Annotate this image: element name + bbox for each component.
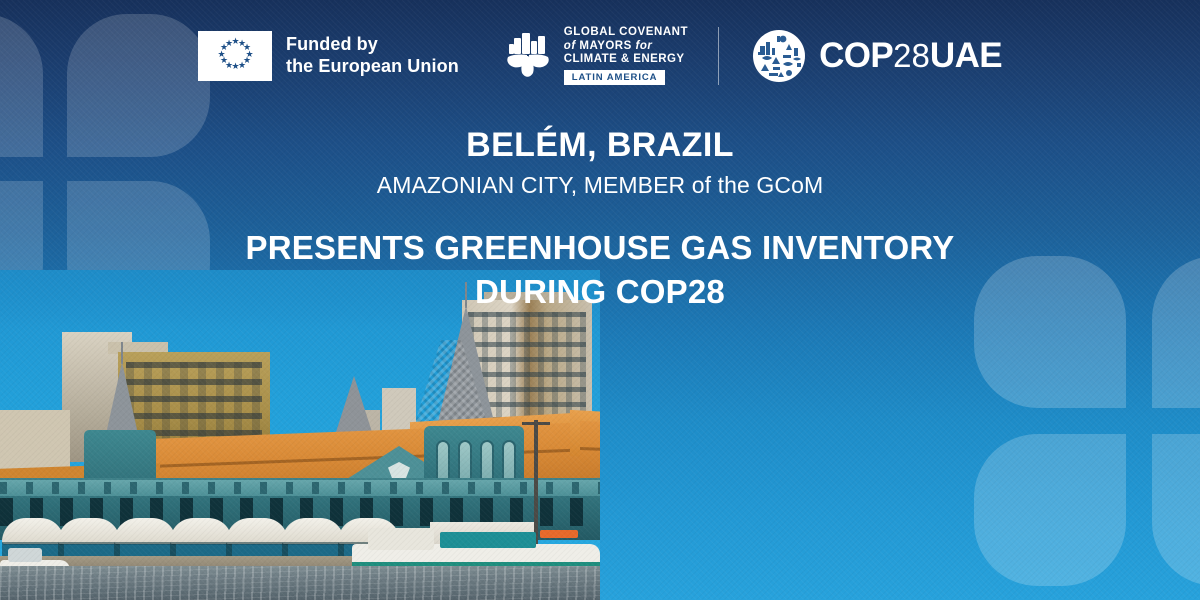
- headline-line-2: DURING COP28: [0, 270, 1200, 314]
- headline-line-1: PRESENTS GREENHOUSE GAS INVENTORY: [0, 226, 1200, 270]
- eu-funding-line-2: the European Union: [286, 56, 459, 78]
- cop28-globe-emblem-icon: [753, 30, 805, 82]
- banner-copy: BELÉM, BRAZIL AMAZONIAN CITY, MEMBER of …: [0, 126, 1200, 313]
- gcom-line-2-of: of: [564, 40, 576, 52]
- gcom-line-2-mayors: MAYORS: [579, 40, 631, 52]
- cop-suffix: UAE: [930, 36, 1002, 76]
- city-title: BELÉM, BRAZIL: [0, 126, 1200, 165]
- logo-header: ★ ★ ★ ★ ★ ★ ★ ★ ★ ★ ★ ★ Funded by the Eu…: [0, 0, 1200, 112]
- gcom-line-2-for: for: [635, 40, 652, 52]
- photo-half-right-mirrored: [0, 270, 600, 600]
- headline: PRESENTS GREENHOUSE GAS INVENTORY DURING…: [0, 226, 1200, 313]
- logo-divider: [718, 27, 719, 85]
- gcom-line-3: CLIMATE & ENERGY: [564, 53, 688, 67]
- cop-prefix: COP: [819, 36, 893, 76]
- gcom-leaf-skyline-icon: [501, 32, 555, 80]
- gcom-line-1: GLOBAL COVENANT: [564, 26, 688, 40]
- european-union-flag-icon: ★ ★ ★ ★ ★ ★ ★ ★ ★ ★ ★ ★: [198, 31, 272, 81]
- cop-number: 28: [893, 37, 930, 75]
- eu-funding-text: Funded by the European Union: [286, 34, 459, 78]
- gcom-wordmark: GLOBAL COVENANT of MAYORS for CLIMATE & …: [564, 26, 688, 86]
- eu-funding-line-1: Funded by: [286, 34, 459, 56]
- gcom-logo: GLOBAL COVENANT of MAYORS for CLIMATE & …: [501, 26, 688, 86]
- city-subtitle: AMAZONIAN CITY, MEMBER of the GCoM: [0, 172, 1200, 199]
- eu-stars-circle: ★ ★ ★ ★ ★ ★ ★ ★ ★ ★ ★ ★: [217, 38, 253, 74]
- cop28-uae-wordmark: COP 28 UAE: [819, 36, 1002, 76]
- cop28-uae-logo: COP 28 UAE: [753, 30, 1002, 82]
- gcom-region-badge: LATIN AMERICA: [564, 70, 666, 84]
- waterfront-photo: [0, 270, 1200, 600]
- eu-funding-logo: ★ ★ ★ ★ ★ ★ ★ ★ ★ ★ ★ ★ Funded by the Eu…: [198, 31, 459, 81]
- gcom-line-2: of MAYORS for: [564, 40, 688, 54]
- cop28-belem-banner: ★ ★ ★ ★ ★ ★ ★ ★ ★ ★ ★ ★ Funded by the Eu…: [0, 0, 1200, 600]
